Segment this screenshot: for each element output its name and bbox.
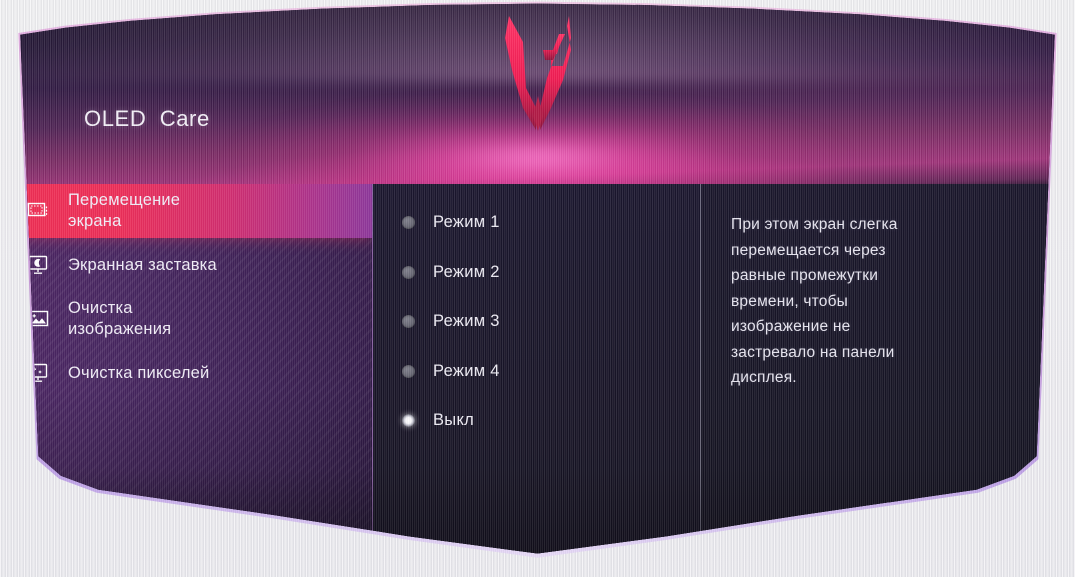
sidebar-item-label: Перемещение экрана bbox=[68, 190, 180, 232]
header-pink-glow bbox=[228, 98, 848, 184]
option-row[interactable]: Режим 2 bbox=[373, 248, 700, 298]
image-cleaning-icon bbox=[26, 308, 52, 330]
option-label: Режим 2 bbox=[433, 263, 500, 282]
option-label: Режим 1 bbox=[433, 213, 500, 232]
osd-header: OLED Care bbox=[2, 2, 1073, 184]
sidebar-menu: Перемещение экрана Экранная заставка bbox=[2, 184, 373, 558]
option-label: Режим 3 bbox=[433, 312, 500, 331]
radio-icon[interactable] bbox=[402, 266, 415, 279]
option-row[interactable]: Режим 1 bbox=[373, 198, 700, 248]
pixel-cleaning-icon bbox=[26, 362, 52, 384]
osd-panel: OLED Care Перемещение экран bbox=[0, 0, 1075, 560]
option-label: Режим 4 bbox=[433, 362, 500, 381]
sidebar-item-screen-saver[interactable]: Экранная заставка bbox=[2, 238, 372, 292]
radio-icon-selected[interactable] bbox=[402, 414, 415, 427]
option-row[interactable]: Режим 3 bbox=[373, 297, 700, 347]
radio-icon[interactable] bbox=[402, 216, 415, 229]
sidebar-item-label: Очистка изображения bbox=[68, 298, 171, 340]
sidebar-item-label: Экранная заставка bbox=[68, 255, 217, 276]
sidebar-item-screen-move[interactable]: Перемещение экрана bbox=[2, 184, 372, 238]
sidebar-item-pixel-cleaning[interactable]: Очистка пикселей bbox=[2, 346, 372, 400]
screen-move-icon bbox=[26, 200, 52, 222]
description-panel: При этом экран слегка перемещается через… bbox=[701, 184, 1073, 558]
description-text: При этом экран слегка перемещается через… bbox=[731, 212, 1047, 391]
monitor-photo-backdrop: OLED Care Перемещение экран bbox=[0, 0, 1075, 577]
osd-screen: OLED Care Перемещение экран bbox=[2, 2, 1073, 558]
option-row[interactable]: Режим 4 bbox=[373, 347, 700, 397]
sidebar-item-image-cleaning[interactable]: Очистка изображения bbox=[2, 292, 372, 346]
option-label: Выкл bbox=[433, 411, 474, 430]
radio-icon[interactable] bbox=[402, 365, 415, 378]
options-list: Режим 1 Режим 2 Режим 3 Режим 4 bbox=[373, 184, 701, 558]
page-title: OLED Care bbox=[84, 106, 210, 132]
option-row-selected[interactable]: Выкл bbox=[373, 396, 700, 446]
sidebar-item-label: Очистка пикселей bbox=[68, 363, 209, 384]
radio-icon[interactable] bbox=[402, 315, 415, 328]
header-top-sheen bbox=[2, 2, 1073, 82]
